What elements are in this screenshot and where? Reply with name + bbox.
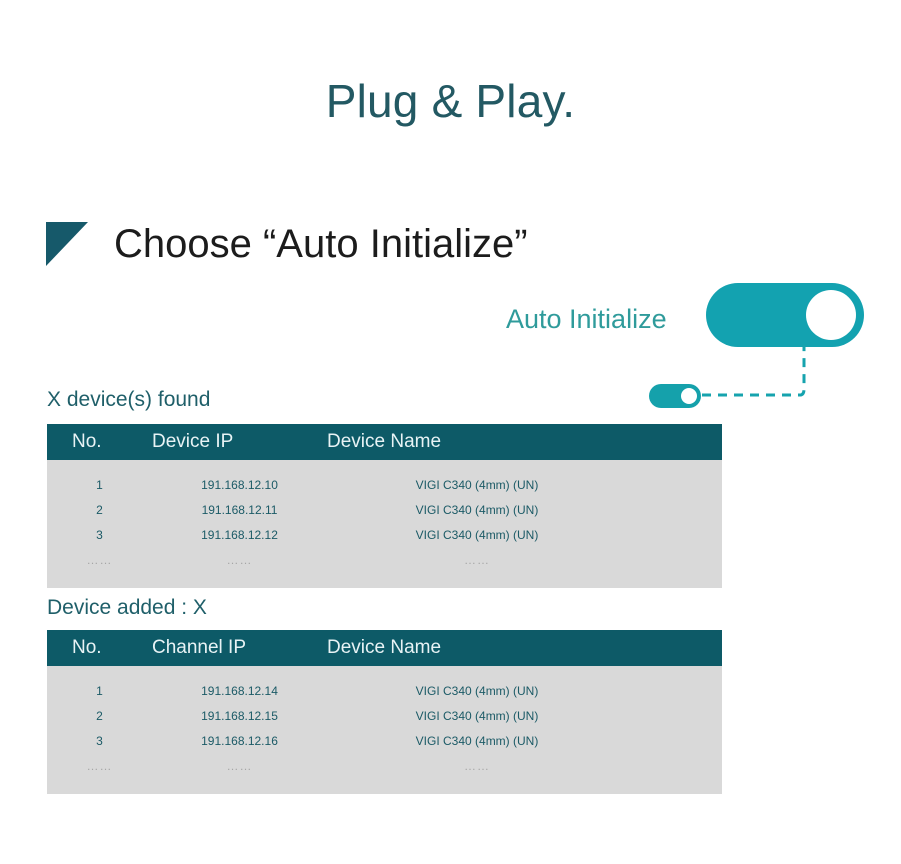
cell-no-ellipsis: …… <box>47 759 152 773</box>
table-body: 1 191.168.12.10 VIGI C340 (4mm) (UN) 2 1… <box>47 460 722 588</box>
table-header-row: No. Device IP Device Name <box>47 424 722 460</box>
column-header-no: No. <box>47 431 152 453</box>
cell-channel-ip: 191.168.12.16 <box>152 734 327 748</box>
page-title: Plug & Play. <box>0 76 901 127</box>
devices-found-caption: X device(s) found <box>47 388 210 412</box>
cell-channel-ip-ellipsis: …… <box>152 759 327 773</box>
table-row[interactable]: 3 191.168.12.16 VIGI C340 (4mm) (UN) <box>47 728 722 753</box>
devices-found-table: No. Device IP Device Name 1 191.168.12.1… <box>47 424 722 588</box>
cell-no: 3 <box>47 734 152 748</box>
auto-initialize-toggle-mini[interactable] <box>649 384 701 408</box>
triangle-flag-icon <box>46 222 88 266</box>
cell-device-name: VIGI C340 (4mm) (UN) <box>327 478 627 492</box>
cell-no: 3 <box>47 528 152 542</box>
device-added-caption: Device added : X <box>47 596 207 620</box>
auto-initialize-toggle[interactable] <box>706 283 864 347</box>
cell-device-name-ellipsis: …… <box>327 553 627 567</box>
cell-device-ip: 191.168.12.12 <box>152 528 327 542</box>
column-header-device-ip: Device IP <box>152 431 327 453</box>
cell-channel-ip: 191.168.12.14 <box>152 684 327 698</box>
table-header-row: No. Channel IP Device Name <box>47 630 722 666</box>
connector-dashed-line <box>700 345 816 405</box>
column-header-device-name: Device Name <box>327 637 627 659</box>
toggle-knob-icon <box>806 290 856 340</box>
table-body: 1 191.168.12.14 VIGI C340 (4mm) (UN) 2 1… <box>47 666 722 794</box>
cell-no: 1 <box>47 684 152 698</box>
cell-device-ip: 191.168.12.11 <box>152 503 327 517</box>
cell-device-name: VIGI C340 (4mm) (UN) <box>327 684 627 698</box>
cell-device-ip-ellipsis: …… <box>152 553 327 567</box>
table-row[interactable]: 1 191.168.12.10 VIGI C340 (4mm) (UN) <box>47 472 722 497</box>
cell-device-name: VIGI C340 (4mm) (UN) <box>327 528 627 542</box>
table-row[interactable]: 3 191.168.12.12 VIGI C340 (4mm) (UN) <box>47 522 722 547</box>
column-header-device-name: Device Name <box>327 431 627 453</box>
device-added-table: No. Channel IP Device Name 1 191.168.12.… <box>47 630 722 794</box>
cell-no: 2 <box>47 709 152 723</box>
cell-device-name: VIGI C340 (4mm) (UN) <box>327 709 627 723</box>
section-heading-label: Choose “Auto Initialize” <box>114 224 528 264</box>
column-header-no: No. <box>47 637 152 659</box>
table-row[interactable]: 2 191.168.12.11 VIGI C340 (4mm) (UN) <box>47 497 722 522</box>
table-row[interactable]: 2 191.168.12.15 VIGI C340 (4mm) (UN) <box>47 703 722 728</box>
toggle-knob-icon <box>681 388 697 404</box>
cell-device-name: VIGI C340 (4mm) (UN) <box>327 503 627 517</box>
section-heading: Choose “Auto Initialize” <box>46 222 528 266</box>
cell-no-ellipsis: …… <box>47 553 152 567</box>
cell-no: 1 <box>47 478 152 492</box>
table-row[interactable]: 1 191.168.12.14 VIGI C340 (4mm) (UN) <box>47 678 722 703</box>
table-row-ellipsis: …… …… …… <box>47 547 722 572</box>
auto-initialize-label: Auto Initialize <box>506 304 667 335</box>
column-header-channel-ip: Channel IP <box>152 637 327 659</box>
cell-device-ip: 191.168.12.10 <box>152 478 327 492</box>
cell-no: 2 <box>47 503 152 517</box>
cell-channel-ip: 191.168.12.15 <box>152 709 327 723</box>
cell-device-name-ellipsis: …… <box>327 759 627 773</box>
cell-device-name: VIGI C340 (4mm) (UN) <box>327 734 627 748</box>
table-row-ellipsis: …… …… …… <box>47 753 722 778</box>
